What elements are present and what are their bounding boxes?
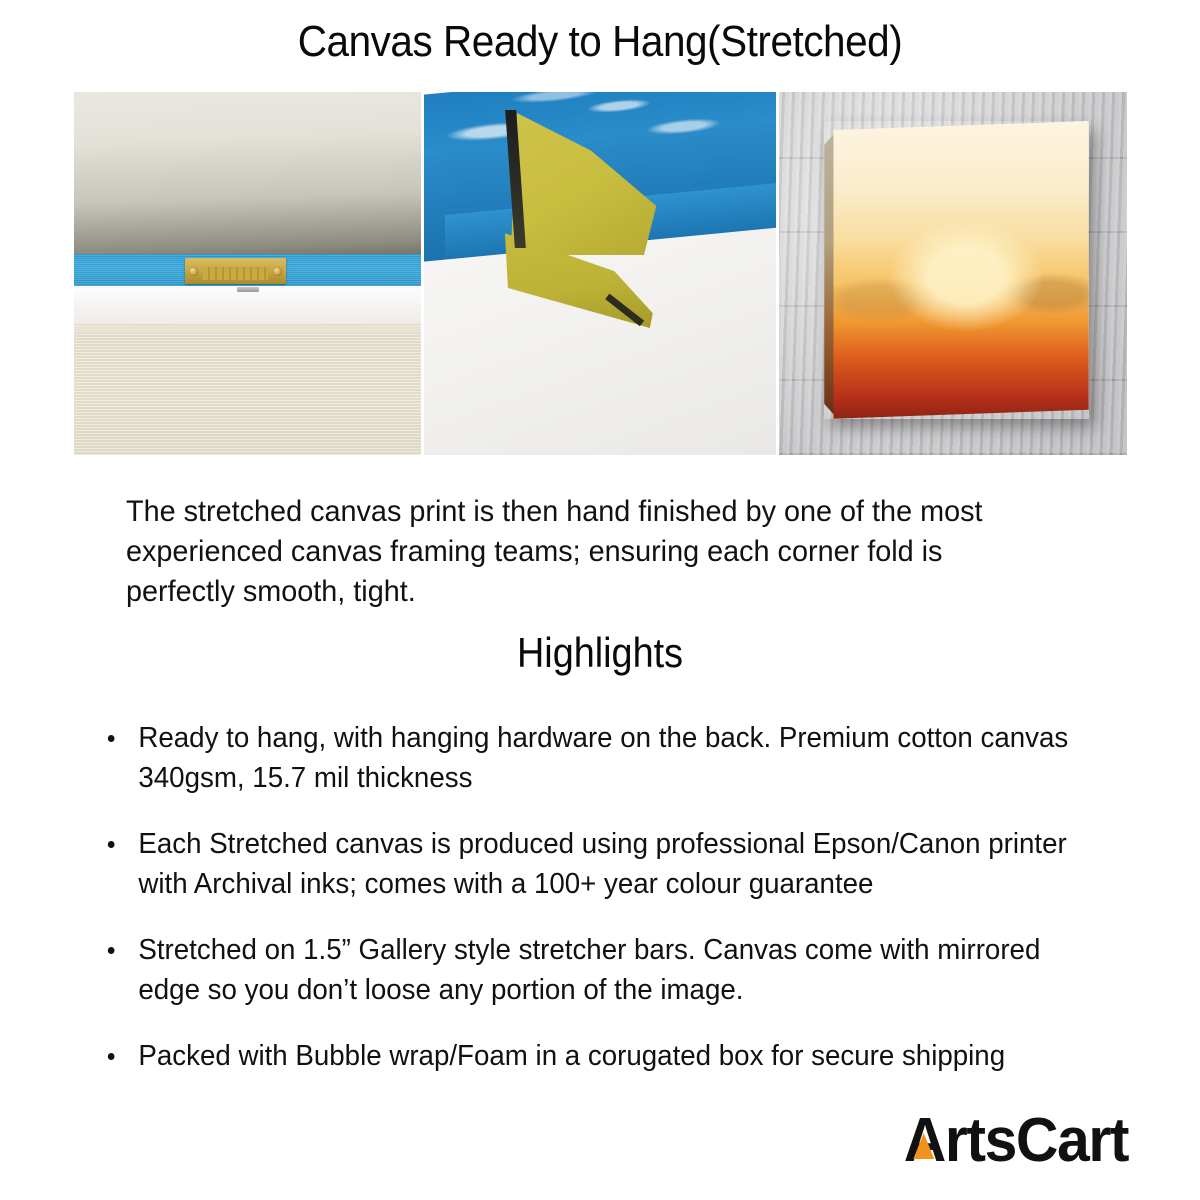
list-item: Ready to hang, with hanging hardware on …: [104, 718, 1088, 798]
brand-name-text: ArtsCart: [904, 1106, 1128, 1175]
photo3-stretched-canvas: [824, 121, 1088, 419]
gallery-image-canvas-back-hanging-hardware: [74, 92, 421, 455]
bullet-dot-icon: [108, 841, 115, 848]
bullet-dot-icon: [108, 947, 115, 954]
list-item-text: Each Stretched canvas is produced using …: [138, 828, 1066, 900]
list-item: Each Stretched canvas is produced using …: [104, 824, 1088, 904]
bullet-dot-icon: [108, 1053, 115, 1060]
photo1-wall-backdrop: [74, 92, 421, 259]
highlights-list: Ready to hang, with hanging hardware on …: [104, 718, 1134, 1102]
gallery-image-canvas-corner-fold: [424, 92, 776, 455]
list-item: Stretched on 1.5” Gallery style stretche…: [104, 930, 1088, 1010]
photo1-canvas-curve: [74, 319, 421, 334]
page-title: Canvas Ready to Hang(Stretched): [48, 16, 1152, 68]
highlights-heading: Highlights: [60, 628, 1140, 678]
hanger-teeth: [203, 267, 267, 280]
bullet-dot-icon: [108, 735, 115, 742]
hanger-screw-right: [273, 267, 282, 276]
list-item: Packed with Bubble wrap/Foam in a coruga…: [104, 1036, 1088, 1076]
orange-triangle-icon: [913, 1133, 934, 1159]
photo1-raw-canvas-surface: [74, 324, 421, 455]
hanger-screw-left: [189, 267, 198, 276]
brand-wordmark: ArtsCart: [904, 1108, 1128, 1174]
list-item-text: Packed with Bubble wrap/Foam in a coruga…: [138, 1040, 1005, 1072]
product-image-gallery: [74, 92, 1127, 455]
photo3-sunset-landscape-print: [833, 121, 1088, 419]
hanger-hook: [237, 287, 259, 292]
list-item-text: Ready to hang, with hanging hardware on …: [138, 722, 1068, 794]
brand-logo: ArtsCart: [892, 1108, 1128, 1174]
list-item-text: Stretched on 1.5” Gallery style stretche…: [138, 934, 1040, 1006]
intro-paragraph: The stretched canvas print is then hand …: [126, 492, 1038, 612]
gallery-image-hanging-canvas-sunset-landscape: [779, 92, 1127, 455]
sawtooth-hanger-icon: [185, 258, 286, 284]
